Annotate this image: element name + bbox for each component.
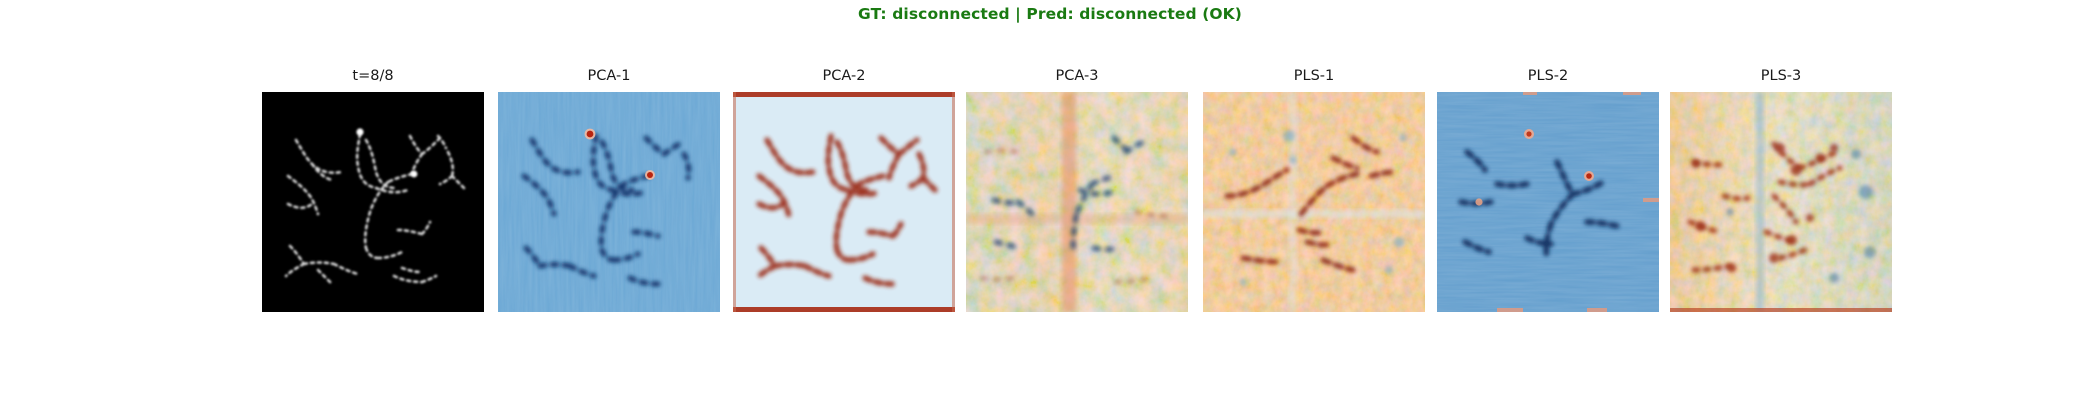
image-pca-2 <box>733 92 955 312</box>
image-source-frame <box>262 92 484 312</box>
panel-title-pca-2: PCA-2 <box>733 68 955 84</box>
image-pls-1 <box>1203 92 1425 312</box>
image-pca-3 <box>966 92 1188 312</box>
panel-pca-2[interactable]: PCA-2 <box>733 92 955 312</box>
panel-title-pls-1: PLS-1 <box>1203 68 1425 84</box>
panel-title-source: t=8/8 <box>262 68 484 84</box>
image-pca-1 <box>498 92 720 312</box>
panel-title-pls-3: PLS-3 <box>1670 68 1892 84</box>
figure-canvas: GT: disconnected | Pred: disconnected (O… <box>0 0 2100 400</box>
panel-pls-3[interactable]: PLS-3 <box>1670 92 1892 312</box>
panel-pca-3[interactable]: PCA-3 <box>966 92 1188 312</box>
image-pls-2 <box>1437 92 1659 312</box>
image-pls-3 <box>1670 92 1892 312</box>
panel-title-pls-2: PLS-2 <box>1437 68 1659 84</box>
panel-pca-1[interactable]: PCA-1 <box>498 92 720 312</box>
panel-pls-1[interactable]: PLS-1 <box>1203 92 1425 312</box>
panel-title-pca-3: PCA-3 <box>966 68 1188 84</box>
figure-suptitle: GT: disconnected | Pred: disconnected (O… <box>0 5 2100 23</box>
panel-title-pca-1: PCA-1 <box>498 68 720 84</box>
panel-pls-2[interactable]: PLS-2 <box>1437 92 1659 312</box>
panel-source-frame[interactable]: t=8/8 <box>262 92 484 312</box>
